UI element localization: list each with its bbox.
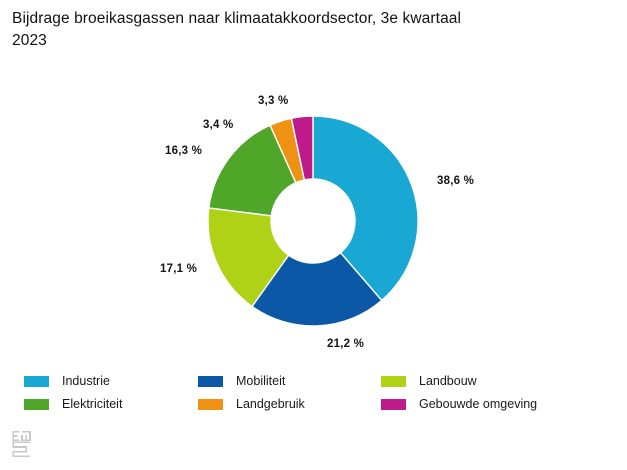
legend-item-mobiliteit[interactable]: Mobiliteit	[198, 370, 381, 393]
legend-item-elektriciteit[interactable]: Elektriciteit	[24, 393, 198, 416]
legend-label-gebouwde-omgeving: Gebouwde omgeving	[419, 398, 537, 411]
value-label-landgebruik: 3,4 %	[203, 119, 233, 131]
legend-swatch-icon-elektriciteit	[24, 399, 49, 410]
legend-label-industrie: Industrie	[62, 375, 110, 388]
legend-label-elektriciteit: Elektriciteit	[62, 398, 122, 411]
legend-swatch-icon-landgebruik	[198, 399, 223, 410]
value-label-gebouwde-omgeving: 3,3 %	[258, 95, 288, 107]
legend-item-industrie[interactable]: Industrie	[24, 370, 198, 393]
chart-legend: Industrie Mobiliteit Landbouw Elektricit…	[24, 370, 604, 416]
cbs-logo	[9, 429, 37, 459]
chart-plot-area: 38,6 % 21,2 % 17,1 % 16,3 % 3,4 % 3,3 %	[0, 0, 627, 360]
value-label-elektriciteit: 16,3 %	[165, 145, 202, 157]
legend-label-landbouw: Landbouw	[419, 375, 477, 388]
value-label-landbouw: 17,1 %	[160, 263, 197, 275]
legend-swatch-icon-industrie	[24, 376, 49, 387]
value-label-industrie: 38,6 %	[437, 175, 474, 187]
legend-item-landbouw[interactable]: Landbouw	[381, 370, 604, 393]
legend-label-mobiliteit: Mobiliteit	[236, 375, 285, 388]
legend-item-landgebruik[interactable]: Landgebruik	[198, 393, 381, 416]
donut-chart	[0, 0, 627, 360]
legend-swatch-icon-landbouw	[381, 376, 406, 387]
legend-swatch-icon-mobiliteit	[198, 376, 223, 387]
legend-item-gebouwde-omgeving[interactable]: Gebouwde omgeving	[381, 393, 604, 416]
legend-label-landgebruik: Landgebruik	[236, 398, 305, 411]
value-label-mobiliteit: 21,2 %	[327, 338, 364, 350]
donut-slice-group	[208, 116, 418, 326]
legend-swatch-icon-gebouwde-omgeving	[381, 399, 406, 410]
